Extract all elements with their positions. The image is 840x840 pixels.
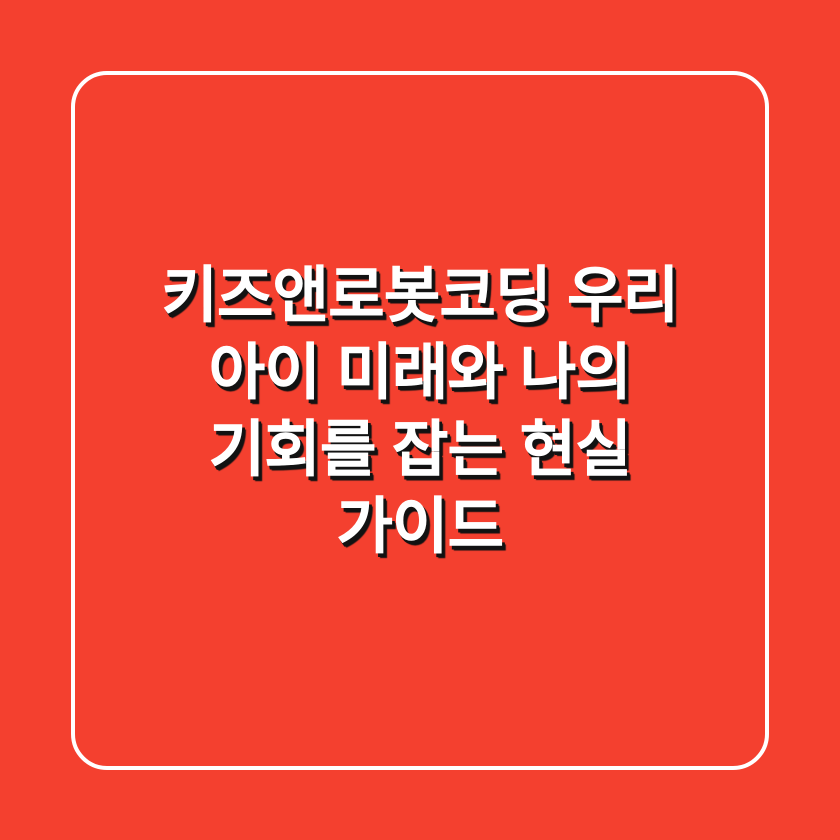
thumbnail-card: 키즈앤로봇코딩 우리 아이 미래와 나의 기회를 잡는 현실 가이드 <box>0 0 840 840</box>
headline-line-3: 기회를 잡는 현실 <box>0 411 840 488</box>
headline-line-1: 키즈앤로봇코딩 우리 <box>0 257 840 334</box>
headline-line-4: 가이드 <box>0 488 840 565</box>
headline-line-2: 아이 미래와 나의 <box>0 334 840 411</box>
headline-block: 키즈앤로봇코딩 우리 아이 미래와 나의 기회를 잡는 현실 가이드 <box>0 0 840 840</box>
